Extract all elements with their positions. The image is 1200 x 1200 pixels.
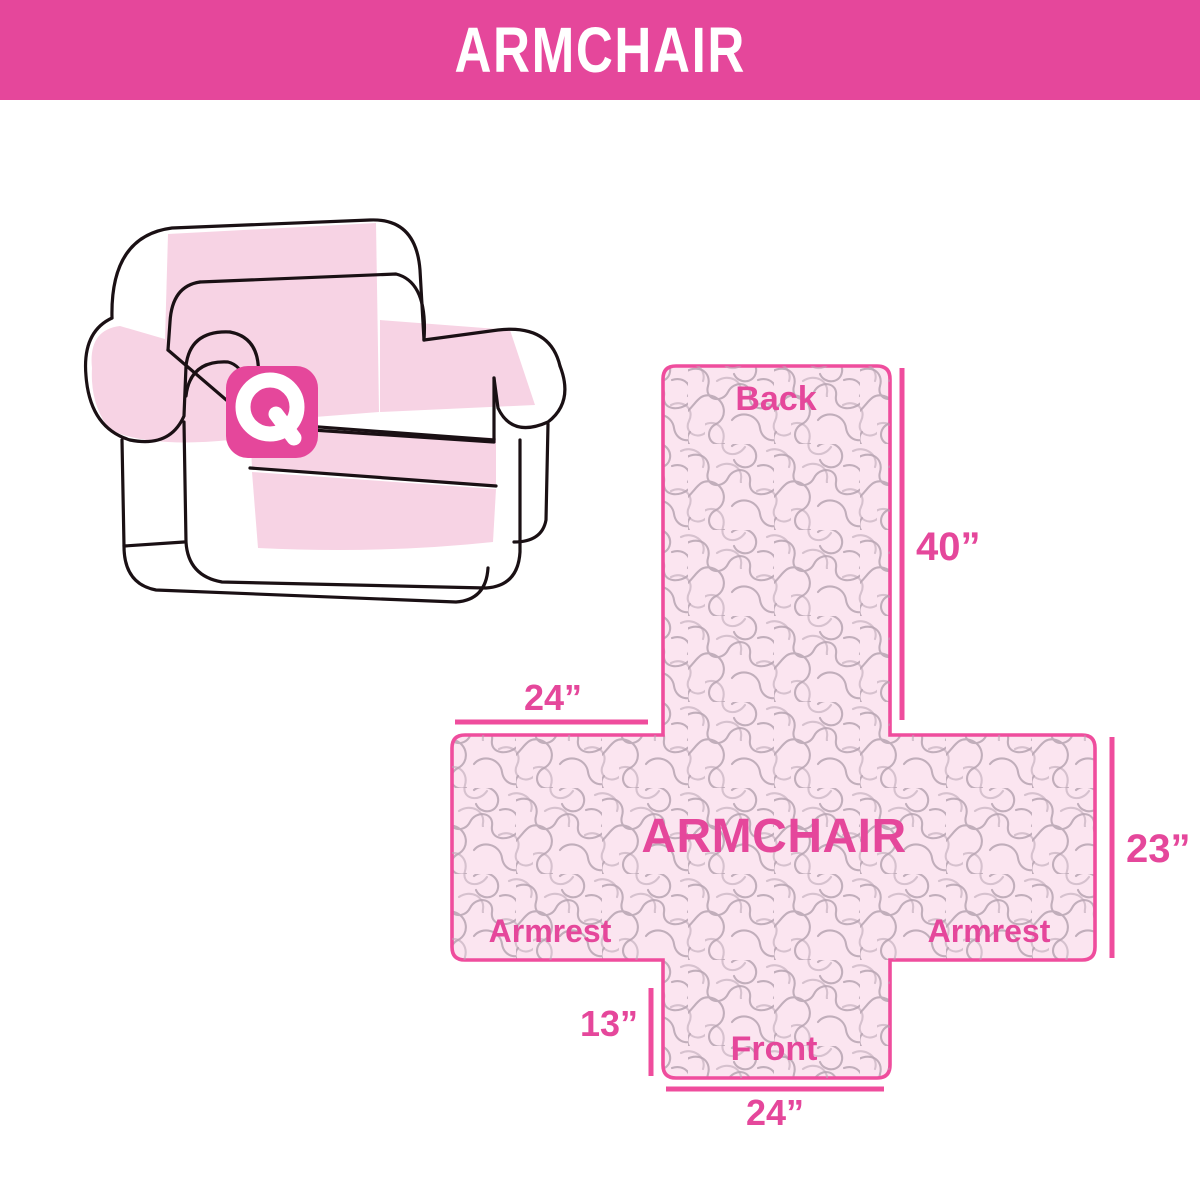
dimension-label-40: 40” bbox=[916, 525, 981, 569]
page-root: ARMCHAIR bbox=[0, 0, 1200, 1200]
dimension-label-24-top: 24” bbox=[524, 677, 582, 718]
content-stage: Back ARMCHAIR Armrest Armrest Front 40” … bbox=[0, 100, 1200, 1200]
center-label-armchair: ARMCHAIR bbox=[641, 810, 906, 863]
panel-label-front: Front bbox=[731, 1030, 818, 1068]
dimension-label-24-bottom: 24” bbox=[746, 1092, 804, 1133]
panel-label-armrest-right: Armrest bbox=[928, 913, 1051, 949]
header-banner: ARMCHAIR bbox=[0, 0, 1200, 100]
page-title: ARMCHAIR bbox=[454, 18, 746, 82]
panel-label-armrest-left: Armrest bbox=[489, 913, 612, 949]
dimension-label-13: 13” bbox=[580, 1003, 638, 1044]
dimension-label-23: 23” bbox=[1126, 827, 1191, 871]
panel-label-back: Back bbox=[735, 380, 816, 418]
slipcover-layout-diagram: Back ARMCHAIR Armrest Armrest Front 40” … bbox=[0, 100, 1200, 1200]
